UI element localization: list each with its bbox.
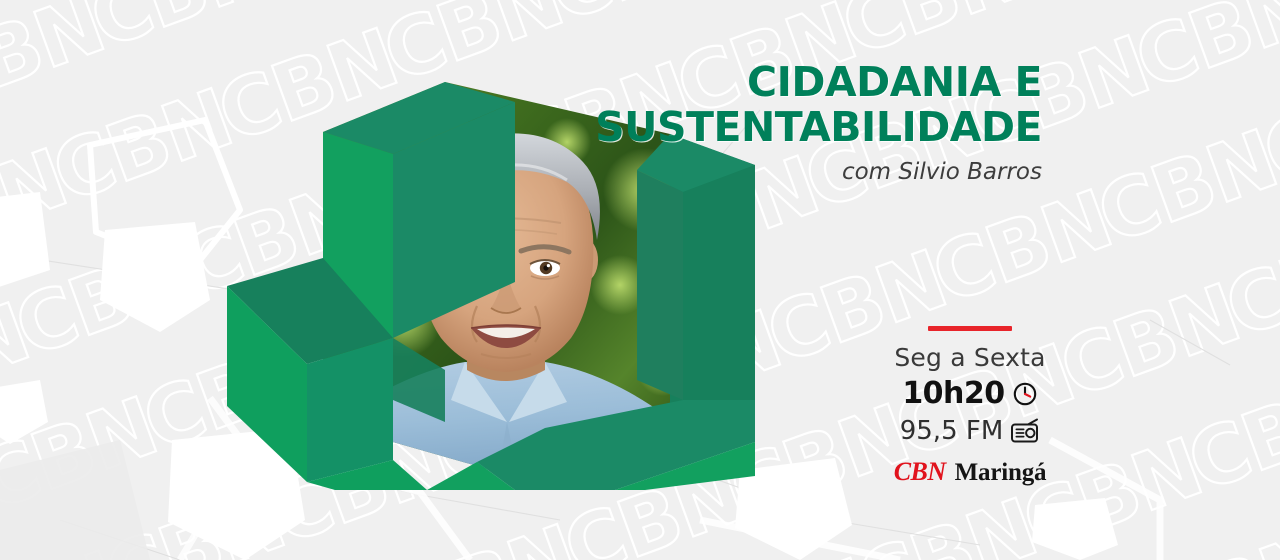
program-title-line-2: SUSTENTABILIDADE [342,105,1042,150]
watermark-word: CBN [0,518,132,560]
program-title-line-1: CIDADANIA E [342,60,1042,105]
watermark-word: CBN [237,0,448,25]
watermark-word: CBN [381,491,592,560]
red-divider-rule [928,326,1012,331]
station-brand: CBN [894,457,946,487]
schedule-frequency-row: 95,5 FM [880,418,1060,444]
schedule-time: 10h20 [902,379,1004,409]
watermark-word: CBN [1080,96,1280,280]
schedule-frequency: 95,5 FM [900,418,1004,444]
watermark-word: CBN [0,363,170,547]
watermark-word: CBN [215,551,426,560]
emblem-face-right-inner [637,170,683,400]
program-title-block: CIDADANIA E SUSTENTABILIDADE com Silvio … [342,60,1042,185]
watermark-word: CBN [0,209,208,393]
watermark-word: CBN [1132,498,1280,560]
watermark-word: CBN [1207,190,1280,374]
clock-icon [1012,381,1038,407]
watermark-word: CBN [1245,36,1280,220]
schedule-days: Seg a Sexta [880,345,1060,370]
watermark-word: CBN [1170,344,1280,528]
radio-icon [1010,418,1040,444]
station-logo: CBN Maringá [880,457,1060,487]
watermark-word: CBN [1042,250,1253,434]
watermark-word: CBN [0,0,117,145]
watermark-word: CBN [1117,0,1280,126]
program-host-subtitle: com Silvio Barros [342,159,1042,185]
schedule-block: Seg a Sexta 10h20 95,5 FM CBN Maringá [880,326,1060,487]
watermark-word: CBN [531,0,742,59]
watermark-word: CBN [35,55,246,239]
station-city: Maringá [955,459,1047,487]
watermark-word: CBN [0,424,5,560]
watermark-word: CBN [0,115,80,299]
watermark-word: CBN [674,525,885,560]
watermark-word: CBN [989,0,1200,32]
emblem-face-right-outer [683,165,755,400]
watermark-word: CBN [0,270,42,454]
cbn-program-banner: CBNCBNCBNCBNCBNCBNCBNCBNCBNCBN CBNCBNCBN… [0,0,1280,560]
schedule-time-row: 10h20 [880,379,1060,409]
